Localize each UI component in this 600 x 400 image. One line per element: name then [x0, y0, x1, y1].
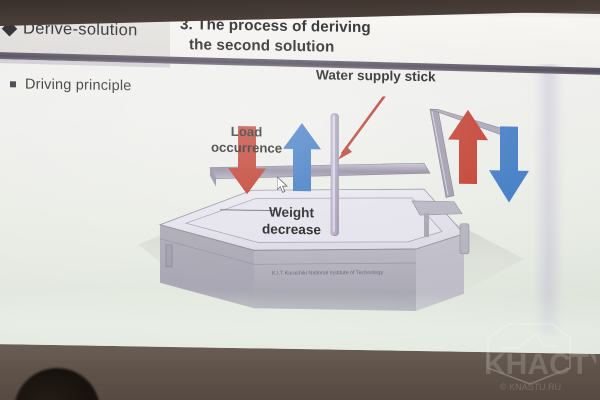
label-weight-line2: decrease	[262, 221, 321, 239]
label-weight-line1: Weight	[262, 204, 321, 222]
bullet-driving-principle: Driving principle	[10, 76, 132, 94]
label-weight-decrease: Weight decrease	[262, 204, 321, 238]
watermark-brand: KHACTY	[484, 348, 596, 381]
right-up-arrow	[448, 110, 488, 185]
machine-diagram-svg: K.I.T Kurashiki National Institute of Te…	[124, 92, 564, 339]
square-bullet-icon	[10, 81, 16, 87]
machine-diagram: K.I.T Kurashiki National Institute of Te…	[124, 92, 564, 339]
label-load-occurrence: Load occurrence	[211, 124, 282, 157]
screenshot-root: Derive-solution 3. The process of derivi…	[0, 0, 600, 400]
right-down-arrow	[489, 126, 529, 203]
machine-caption: K.I.T Kurashiki National Institute of Te…	[272, 270, 384, 276]
label-load-line2: occurrence	[211, 140, 282, 157]
page-title-line2: the second solution	[180, 35, 371, 58]
label-water-supply-stick: Water supply stick	[316, 67, 436, 86]
watermark-knastu: KHACTY © KNASTU.RU	[478, 318, 596, 396]
page-title: 3. The process of deriving the second so…	[180, 15, 371, 58]
mouse-cursor	[277, 177, 289, 194]
water-supply-pointer-arrow	[338, 92, 390, 160]
water-supply-stick	[331, 114, 339, 236]
label-load-line1: Load	[211, 124, 282, 141]
projection-slide: Derive-solution 3. The process of derivi…	[0, 4, 600, 354]
bullet-label: Driving principle	[25, 77, 132, 95]
watermark-url: © KNASTU.RU	[500, 382, 561, 392]
